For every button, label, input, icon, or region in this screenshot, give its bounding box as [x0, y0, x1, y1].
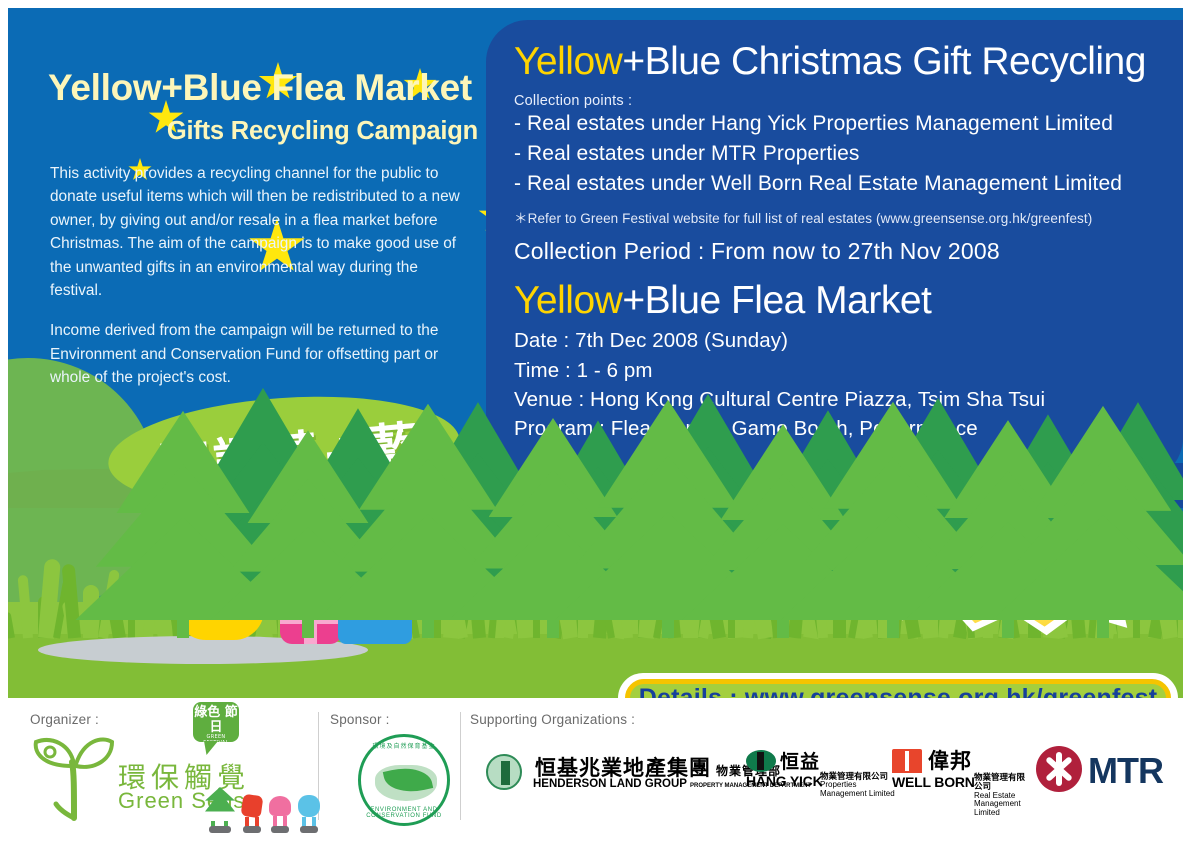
green-festival-badge-line1: 綠色 [194, 705, 220, 720]
ecf-ring-top-text: 環境及自然保育基金 [361, 741, 447, 750]
hang-yick-mark-icon [746, 750, 776, 772]
mascot-pink-heart [267, 791, 293, 833]
tree-trunk [422, 614, 434, 638]
refer-note: ＊Refer to Green Festival website for ful… [514, 207, 1169, 227]
henderson-land-logo: 恒基兆業地產集團物業管理部 HENDERSON LAND GROUPPROPER… [486, 750, 738, 806]
tree-trunk [302, 614, 314, 638]
mtr-roundel-icon [1036, 746, 1082, 792]
ecf-logo: 環境及自然保育基金 ENVIRONMENT AND CONSERVATION F… [358, 734, 450, 826]
tree-trunk [662, 614, 674, 638]
hang-yick-name-cn: 恒益 [780, 747, 820, 774]
ecf-ring-bottom-text: ENVIRONMENT AND CONSERVATION FUND [361, 807, 447, 819]
green-sense-name-en: Green Sense [118, 788, 259, 814]
intro-paragraph-1: This activity provides a recycling chann… [50, 162, 470, 302]
well-born-mark-icon [892, 749, 922, 773]
mascot-tree [203, 787, 237, 833]
poster-canvas: Yellow+Blue Flea Market Gifts Recycling … [0, 0, 1191, 843]
green-festival-badge: 綠色 節日 GREEN FESTIVAL [193, 702, 239, 742]
flea-heading-white: +Blue Flea Market [622, 279, 931, 322]
collection-points-list: - Real estates under Hang Yick Propertie… [514, 109, 1169, 198]
henderson-mark-icon [486, 754, 522, 790]
well-born-name-cn: 偉邦 [928, 745, 972, 775]
hang-yick-subtitle-en: Properties Management Limited [820, 780, 895, 798]
recycling-heading: Yellow+Blue Christmas Gift Recycling [514, 42, 1169, 83]
well-born-subtitle: 物業管理有限公司 Real Estate Management Limited [974, 773, 1032, 818]
henderson-name-en-main: HENDERSON LAND GROUP [533, 778, 687, 790]
tree-trunk [887, 614, 899, 638]
organizer-label: Organizer : [30, 712, 99, 727]
event-venue: Venue : Hong Kong Cultural Centre Piazza… [514, 385, 1169, 414]
well-born-subtitle-cn: 物業管理有限公司 [974, 773, 1032, 792]
collection-point-item: - Real estates under Hang Yick Propertie… [514, 109, 1169, 139]
collection-points-label: Collection points : [514, 93, 1169, 109]
page-title: Yellow+Blue Flea Market [48, 68, 478, 108]
green-festival-badge-en: GREEN FESTIVAL [193, 735, 239, 746]
sprout-icon [30, 726, 116, 822]
footer-bar: Organizer : Sponsor : Supporting Organiz… [8, 698, 1183, 835]
intro-paragraph-2: Income derived from the campaign will be… [50, 319, 470, 389]
hang-yick-logo: 恒益 HANG YICK 物業管理有限公司 Properties Managem… [746, 748, 896, 806]
recycling-heading-yellow: Yellow [514, 40, 622, 83]
event-time: Time : 1 - 6 pm [514, 356, 1169, 385]
hang-yick-name-en: HANG YICK [746, 773, 823, 789]
collection-point-item: - Real estates under Well Born Real Esta… [514, 169, 1169, 199]
hang-yick-subtitle: 物業管理有限公司 Properties Management Limited [820, 772, 896, 799]
collection-point-item: - Real estates under MTR Properties [514, 139, 1169, 169]
page-subtitle: Gifts Recycling Campaign [48, 117, 478, 146]
flea-heading-yellow: Yellow [514, 279, 622, 322]
footer-divider-2 [460, 712, 461, 820]
tree-trunk [177, 614, 189, 638]
mascot-red [240, 791, 264, 833]
intro-text-block: This activity provides a recycling chann… [50, 162, 470, 390]
mascot-blue [296, 791, 322, 833]
henderson-name-cn-main: 恒基兆業地產集團 [535, 756, 711, 780]
well-born-subtitle-en: Real Estate Management Limited [974, 791, 1021, 818]
event-details-list: Date : 7th Dec 2008 (Sunday) Time : 1 - … [514, 326, 1169, 443]
recycling-heading-white: +Blue Christmas Gift Recycling [622, 40, 1146, 83]
flea-market-heading: Yellow+Blue Flea Market [514, 281, 1169, 322]
sponsor-label: Sponsor : [330, 712, 390, 727]
event-date: Date : 7th Dec 2008 (Sunday) [514, 326, 1169, 355]
supporting-organizations-label: Supporting Organizations : [470, 712, 635, 727]
info-panel: Yellow+Blue Christmas Gift Recycling Col… [486, 20, 1183, 480]
well-born-logo: 偉邦 WELL BORN 物業管理有限公司 Real Estate Manage… [892, 748, 1032, 806]
mtr-wordmark: MTR [1088, 750, 1163, 792]
tree-trunk [1097, 614, 1109, 638]
collection-period: Collection Period : From now to 27th Nov… [514, 238, 1169, 265]
mtr-logo: MTR [1036, 746, 1186, 796]
well-born-name-en: WELL BORN [892, 774, 975, 790]
